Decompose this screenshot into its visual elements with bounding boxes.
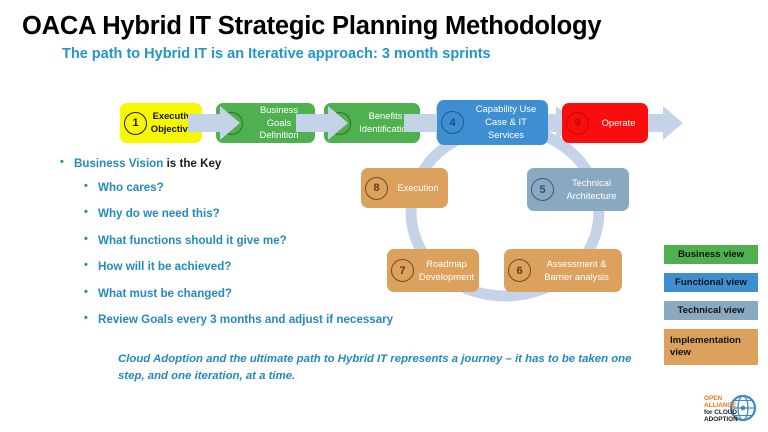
process-box-4-label: Capability Use Case & IT Services [467, 103, 548, 141]
logo-line-2: ALLIANCE [704, 402, 737, 409]
list-item: Why do we need this? [58, 207, 408, 221]
step-number-8: 8 [365, 177, 388, 200]
process-box-8-execution[interactable]: 8 Execution [361, 168, 448, 208]
legend-item-implementation-view: Implementation view [664, 329, 758, 365]
process-box-6-line1: Assessment & [547, 258, 607, 269]
process-box-4-capability-use-case[interactable]: 4 Capability Use Case & IT Services [437, 100, 548, 145]
logo-line-4: ADOPTION [704, 416, 738, 423]
step-number-7: 7 [391, 259, 414, 282]
process-box-2-line2: Goals Definition [259, 117, 298, 141]
list-item: What must be changed? [58, 287, 408, 301]
process-box-7-label: Roadmap Development [417, 258, 479, 283]
bullet-list: Business Vision is the Key Who cares? Wh… [58, 157, 408, 339]
process-box-7-line1: Roadmap [426, 258, 467, 269]
logo-line-3: for CLOUD [704, 409, 737, 416]
step-number-9: 9 [566, 112, 589, 135]
logo-line-1: OPEN [704, 395, 722, 402]
step-number-1: 1 [124, 112, 147, 135]
legend-item-technical-view: Technical view [664, 301, 758, 320]
process-box-2-line1: Business [260, 104, 298, 115]
legend-item-business-view: Business view [664, 245, 758, 264]
list-item: Who cares? [58, 181, 408, 195]
process-box-6-line2: Barrier analysis [544, 271, 609, 282]
flow-arrow-after-operate [641, 104, 689, 142]
legend-label: Business view [678, 249, 744, 260]
process-box-6-assessment-barrier-analysis[interactable]: 6 Assessment & Barrier analysis [504, 249, 622, 292]
footer-note: Cloud Adoption and the ultimate path to … [118, 351, 638, 384]
process-box-5-technical-architecture[interactable]: 5 Technical Architecture [527, 168, 629, 211]
legend-label: Functional view [675, 277, 747, 288]
bullet-heading: Business Vision is the Key [58, 157, 408, 170]
flow-arrow-2-to-3 [296, 104, 352, 142]
legend-label: Technical view [677, 305, 744, 316]
list-item: What functions should it give me? [58, 234, 408, 248]
process-box-7-roadmap-development[interactable]: 7 Roadmap Development [387, 249, 479, 292]
bullet-heading-strong: Business Vision [74, 157, 163, 170]
legend-label: Implementation view [670, 335, 752, 359]
process-box-4-line2: Case & IT Services [485, 116, 527, 140]
list-item: Review Goals every 3 months and adjust i… [58, 313, 398, 327]
bullet-heading-rest: is the Key [163, 157, 221, 170]
process-box-7-line2: Development [419, 271, 474, 282]
legend-item-functional-view: Functional view [664, 273, 758, 292]
flow-arrow-1-to-2 [188, 104, 244, 142]
list-item: How will it be achieved? [58, 260, 408, 274]
page-subtitle: The path to Hybrid IT is an Iterative ap… [62, 47, 702, 63]
oaca-logo: OPEN ALLIANCE for CLOUD ADOPTION [702, 392, 758, 426]
process-box-4-line1: Capability Use [476, 103, 536, 114]
step-number-4: 4 [441, 111, 464, 134]
step-number-6: 6 [508, 259, 531, 282]
step-number-5: 5 [531, 178, 554, 201]
process-box-9-operate[interactable]: 9 Operate [562, 103, 648, 143]
process-box-8-label: Execution [391, 182, 448, 195]
oaca-logo-graphic: OPEN ALLIANCE for CLOUD ADOPTION [702, 392, 758, 426]
process-box-5-label: Technical Architecture [557, 177, 629, 202]
page-title: OACA Hybrid IT Strategic Planning Method… [22, 12, 722, 40]
process-box-6-label: Assessment & Barrier analysis [534, 258, 622, 283]
process-box-9-label: Operate [592, 117, 648, 130]
process-box-5-line1: Technical [572, 177, 611, 188]
process-box-5-line2: Architecture [566, 190, 616, 201]
